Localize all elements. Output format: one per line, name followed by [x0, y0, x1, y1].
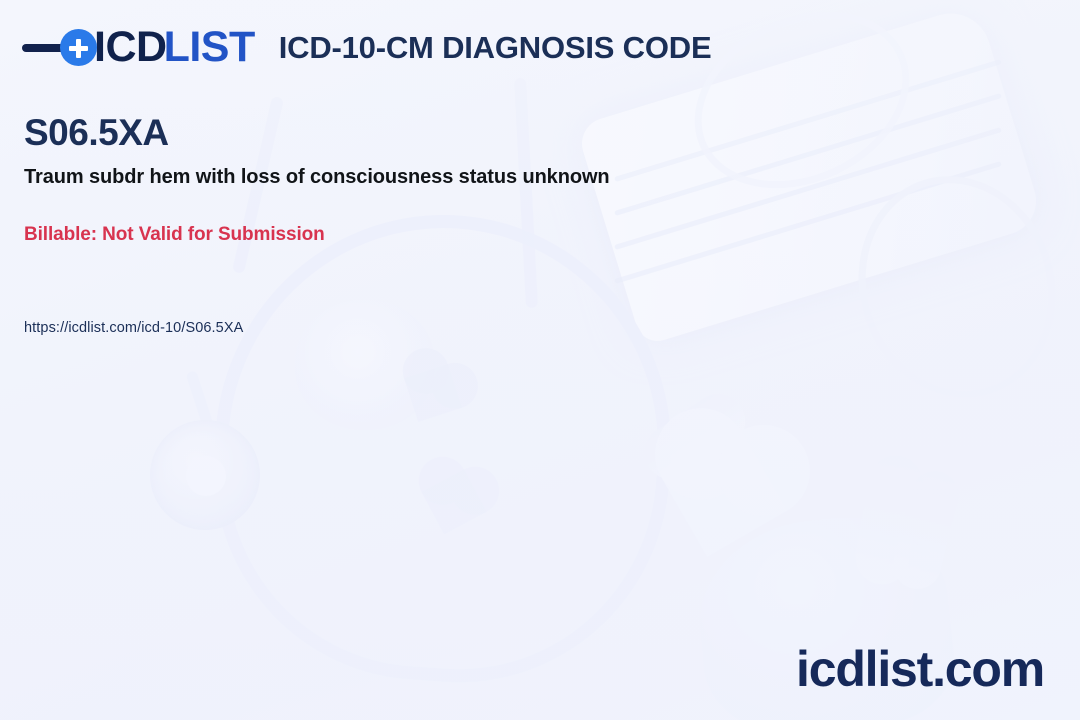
plus-icon [60, 29, 97, 66]
mask-ear-strap-icon [831, 152, 1080, 423]
mask-pleat-line [614, 93, 1002, 216]
code-details: S06.5XA Traum subdr hem with loss of con… [24, 112, 610, 246]
hand-finger-icon [851, 451, 927, 588]
stethoscope-bell-icon [295, 300, 435, 430]
diagnosis-code-card: ICD LIST ICD-10-CM DIAGNOSIS CODE S06.5X… [0, 0, 1080, 720]
hand-finger-icon [634, 384, 755, 490]
hand-finger-icon [888, 466, 964, 594]
site-watermark: icdlist.com [796, 644, 1044, 694]
page-title: ICD-10-CM DIAGNOSIS CODE [279, 30, 712, 66]
logo-text-icd: ICD [94, 26, 167, 69]
diagnosis-description: Traum subdr hem with loss of consciousne… [24, 166, 610, 189]
page-header: ICD LIST ICD-10-CM DIAGNOSIS CODE [22, 26, 711, 69]
code-url-link[interactable]: https://icdlist.com/icd-10/S06.5XA [24, 320, 243, 336]
mask-pleat-line [614, 161, 1002, 284]
heart-shape-icon [422, 470, 487, 535]
stethoscope-loop-icon [199, 200, 686, 697]
paper-heart-icon [661, 431, 787, 557]
background-photo [0, 0, 1080, 720]
mask-pleat-line [614, 59, 1002, 182]
diagnosis-code: S06.5XA [24, 112, 610, 153]
stethoscope-chestpiece-icon [150, 420, 260, 530]
billable-status-badge: Billable: Not Valid for Submission [24, 224, 610, 246]
heart-shape-icon [404, 364, 462, 422]
stethoscope-chestpiece-center-icon [186, 456, 226, 496]
icdlist-logo[interactable]: ICD LIST [22, 26, 255, 69]
plus-icon-vertical-bar [76, 39, 81, 58]
logo-text-list: LIST [164, 26, 255, 69]
stethoscope-stem-icon [185, 370, 217, 440]
mask-pleat-line [614, 127, 1002, 250]
background-overlay-wash [0, 0, 1080, 720]
